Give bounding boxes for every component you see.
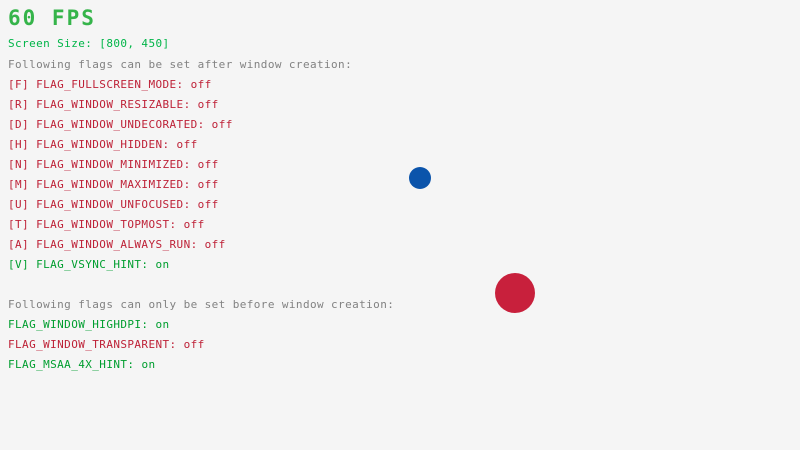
flag-name: FLAG_VSYNC_HINT:	[36, 258, 155, 271]
flag-name: FLAG_WINDOW_UNFOCUSED:	[36, 198, 198, 211]
flag-state-value: off	[198, 198, 219, 211]
blue-ball-circle	[409, 167, 431, 189]
fps-counter: 60 FPS	[8, 8, 96, 29]
flag-state-value: on	[155, 258, 169, 271]
flag-row[interactable]: [D] FLAG_WINDOW_UNDECORATED: off	[8, 119, 233, 130]
flag-state-value: off	[205, 238, 226, 251]
flag-shortcut-key: [D]	[8, 118, 36, 131]
before-creation-section-header: Following flags can only be set before w…	[8, 299, 394, 310]
flag-shortcut-key: [F]	[8, 78, 36, 91]
flag-row[interactable]: [T] FLAG_WINDOW_TOPMOST: off	[8, 219, 205, 230]
flag-state-value: off	[198, 158, 219, 171]
flag-name: FLAG_WINDOW_UNDECORATED:	[36, 118, 212, 131]
flag-row[interactable]: [F] FLAG_FULLSCREEN_MODE: off	[8, 79, 212, 90]
flag-row[interactable]: [R] FLAG_WINDOW_RESIZABLE: off	[8, 99, 219, 110]
flag-name: FLAG_WINDOW_MINIMIZED:	[36, 158, 198, 171]
flag-state-value: off	[184, 338, 205, 351]
flag-name: FLAG_WINDOW_HIGHDPI:	[8, 318, 155, 331]
flag-state-value: off	[191, 78, 212, 91]
flag-name: FLAG_WINDOW_HIDDEN:	[36, 138, 176, 151]
flag-name: FLAG_WINDOW_TOPMOST:	[36, 218, 183, 231]
red-ball-circle	[495, 273, 535, 313]
flag-name: FLAG_WINDOW_RESIZABLE:	[36, 98, 198, 111]
after-creation-section-header: Following flags can be set after window …	[8, 59, 352, 70]
flag-row[interactable]: [N] FLAG_WINDOW_MINIMIZED: off	[8, 159, 219, 170]
flag-name: FLAG_MSAA_4X_HINT:	[8, 358, 141, 371]
flag-state-value: off	[212, 118, 233, 131]
flag-shortcut-key: [N]	[8, 158, 36, 171]
flag-shortcut-key: [H]	[8, 138, 36, 151]
flag-row[interactable]: FLAG_MSAA_4X_HINT: on	[8, 359, 155, 370]
flag-shortcut-key: [M]	[8, 178, 36, 191]
flag-name: FLAG_WINDOW_TRANSPARENT:	[8, 338, 184, 351]
flag-row[interactable]: [U] FLAG_WINDOW_UNFOCUSED: off	[8, 199, 219, 210]
flag-state-value: on	[141, 358, 155, 371]
screen-size-label: Screen Size: [800, 450]	[8, 38, 170, 49]
flag-row[interactable]: [V] FLAG_VSYNC_HINT: on	[8, 259, 170, 270]
flag-state-value: off	[184, 218, 205, 231]
flag-row[interactable]: [A] FLAG_WINDOW_ALWAYS_RUN: off	[8, 239, 226, 250]
flag-name: FLAG_FULLSCREEN_MODE:	[36, 78, 191, 91]
flag-row[interactable]: [M] FLAG_WINDOW_MAXIMIZED: off	[8, 179, 219, 190]
flag-shortcut-key: [T]	[8, 218, 36, 231]
flag-name: FLAG_WINDOW_ALWAYS_RUN:	[36, 238, 205, 251]
flag-shortcut-key: [A]	[8, 238, 36, 251]
flag-row[interactable]: [H] FLAG_WINDOW_HIDDEN: off	[8, 139, 198, 150]
flag-shortcut-key: [R]	[8, 98, 36, 111]
flag-state-value: off	[198, 98, 219, 111]
flag-state-value: on	[155, 318, 169, 331]
flag-shortcut-key: [U]	[8, 198, 36, 211]
flag-row[interactable]: FLAG_WINDOW_HIGHDPI: on	[8, 319, 170, 330]
flag-name: FLAG_WINDOW_MAXIMIZED:	[36, 178, 198, 191]
flag-shortcut-key: [V]	[8, 258, 36, 271]
raylib-window-canvas[interactable]: 60 FPS Screen Size: [800, 450] Following…	[0, 0, 800, 450]
flag-state-value: off	[177, 138, 198, 151]
flag-state-value: off	[198, 178, 219, 191]
flag-row[interactable]: FLAG_WINDOW_TRANSPARENT: off	[8, 339, 205, 350]
